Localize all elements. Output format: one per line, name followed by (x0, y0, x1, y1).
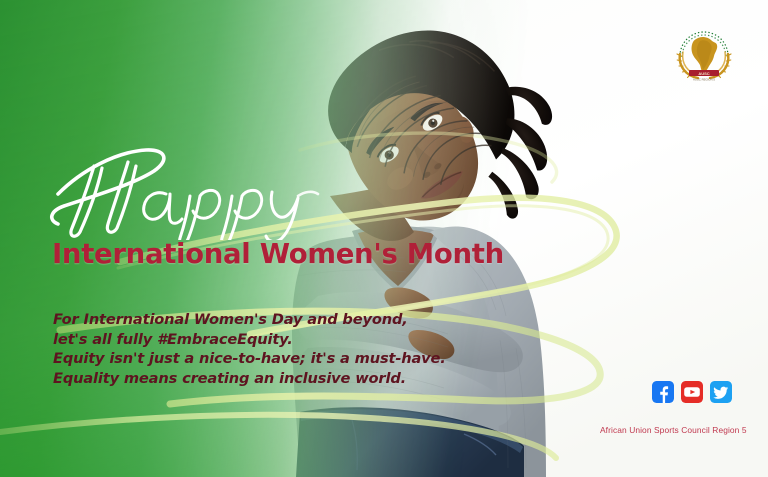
body-line-1: For International Women's Day and beyond… (53, 310, 473, 330)
social-icons (652, 381, 732, 403)
body-line-3: Equity isn't just a nice-to-have; it's a… (53, 349, 473, 369)
body-line-2: let's all fully #EmbraceEquity. (53, 330, 473, 350)
logo-subtitle-text: AUSC REGION 5 (693, 77, 715, 81)
youtube-icon[interactable] (681, 381, 703, 403)
script-headline-happy (52, 146, 352, 232)
twitter-icon[interactable] (710, 381, 732, 403)
facebook-icon[interactable] (652, 381, 674, 403)
body-copy: For International Women's Day and beyond… (53, 310, 473, 388)
poster-canvas: International Women's Month For Internat… (0, 0, 768, 477)
african-union-emblem-logo: AUSC AUSC REGION 5 (672, 26, 736, 82)
logo-title-text: AUSC (698, 71, 709, 76)
headline-block: International Women's Month (52, 146, 522, 270)
footer-caption: African Union Sports Council Region 5 (600, 425, 747, 435)
body-line-4: Equality means creating an inclusive wor… (53, 369, 473, 389)
main-headline: International Women's Month (52, 238, 522, 270)
